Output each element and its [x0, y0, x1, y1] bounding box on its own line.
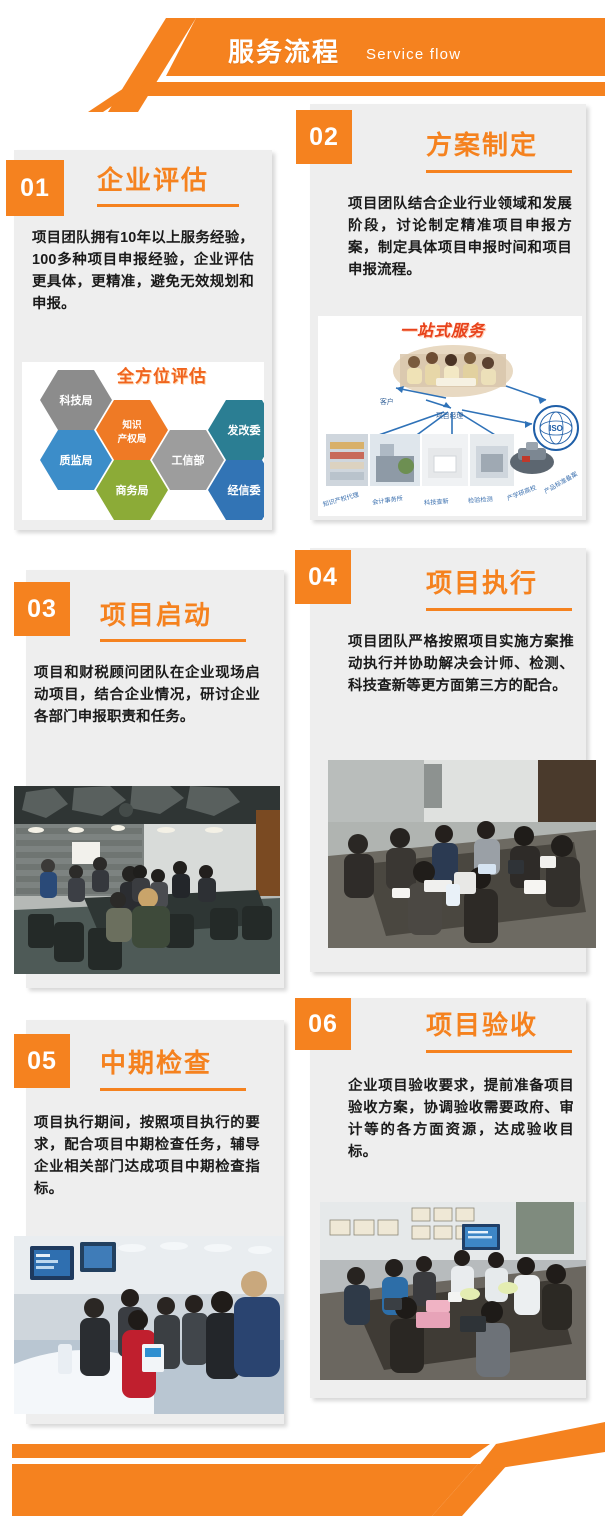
card-05-title: 中期检查	[100, 1050, 212, 1076]
hex-node-4-label: 工信部	[172, 453, 205, 467]
card-02-number: 02	[296, 110, 352, 164]
card-01[interactable]: 01 企业评估 项目团队拥有10年以上服务经验，100多种项目申报经验，企业评估…	[14, 150, 286, 540]
one-stop-service-diagram: 客户 项目经理	[318, 316, 582, 516]
card-01-title-rule	[97, 204, 239, 207]
card-03-title: 项目启动	[100, 602, 212, 628]
oss-top-photo	[393, 345, 513, 397]
card-01-number: 01	[6, 160, 64, 216]
hex-node-2-label: 发改委	[227, 423, 262, 437]
card-03[interactable]: 03 项目启动 项目和财税顾问团队在企业现场启动项目，结合企业情况，研讨企业各部…	[14, 570, 294, 990]
card-04-number: 04	[295, 550, 351, 604]
photo-boardroom	[320, 1202, 586, 1380]
hex-node-1-label-line2: 产权局	[118, 433, 147, 445]
card-06-body: 企业项目验收要求，提前准备项目验收方案，协调验收需要政府、审计等的各方面资源，达…	[348, 1076, 574, 1164]
oss-center-label: 项目经理	[436, 411, 463, 420]
photo-showroom-visit-svg	[14, 1236, 284, 1414]
card-05-number: 05	[14, 1034, 70, 1088]
card-01-title: 企业评估	[97, 167, 209, 193]
footer-banner-shape	[0, 1418, 605, 1538]
card-04-title: 项目执行	[426, 570, 538, 596]
card-03-title-rule	[100, 639, 246, 642]
card-01-body: 项目团队拥有10年以上服务经验，100多种项目申报经验，企业评估更具体，更精准，…	[32, 228, 254, 316]
hex-node-0-label: 科技局	[60, 393, 93, 407]
card-02-title-rule	[426, 170, 572, 173]
photo-showroom-visit	[14, 1236, 284, 1414]
card-02-title: 方案制定	[426, 132, 538, 158]
photo-meeting-table	[328, 760, 596, 948]
card-05-title-rule	[100, 1088, 246, 1091]
hex-node-3-label: 质监局	[60, 453, 93, 467]
card-05[interactable]: 05 中期检查 项目执行期间，按照项目执行的要求，配合项目中期检查任务，辅导企业…	[14, 1020, 294, 1440]
hex-node-6-label: 经信委	[228, 483, 262, 497]
page-subtitle: Service flow	[366, 47, 461, 62]
hex-node-5-label: 商务局	[116, 483, 149, 497]
hex-diagram-heading: 全方位评估	[117, 368, 207, 385]
service-flow-infographic: 服务流程 Service flow 01 企业评估 项目团队拥有10年以上服务经…	[0, 0, 605, 1538]
photo-conference-room	[14, 786, 280, 974]
hex-diagram: 科技局 质监局 知识 产权局 商务局 工信部 发改委 经信委	[22, 362, 264, 520]
page-title: 服务流程	[228, 39, 340, 65]
oss-iso-badge: ISO	[534, 406, 578, 450]
photo-boardroom-svg	[320, 1202, 586, 1380]
page-footer: 全国统一热线： 400-150-1560	[0, 1418, 605, 1538]
card-04-body: 项目团队严格按照项目实施方案推动执行并协助解决会计师、检测、科技查新等更方面第三…	[348, 632, 574, 698]
one-stop-service-svg: 客户 项目经理	[318, 316, 582, 516]
card-06-title: 项目验收	[426, 1012, 538, 1038]
card-03-body: 项目和财税顾问团队在企业现场启动项目，结合企业情况，研讨企业各部门申报职责和任务…	[34, 663, 260, 729]
card-05-body: 项目执行期间，按照项目执行的要求，配合项目中期检查任务，辅导企业相关部门达成项目…	[34, 1113, 260, 1201]
photo-meeting-table-svg	[328, 760, 596, 948]
oss-iso-text: ISO	[549, 424, 563, 433]
card-04[interactable]: 04 项目执行 项目团队严格按照项目实施方案推动执行并协助解决会计师、检测、科技…	[296, 548, 596, 978]
photo-conference-room-svg	[14, 786, 280, 974]
card-06-title-rule	[426, 1050, 572, 1053]
page-header: 服务流程 Service flow	[0, 0, 605, 110]
card-02-body: 项目团队结合企业行业领域和发展阶段，讨论制定精准项目申报方案，制定具体项目申报时…	[348, 194, 572, 282]
card-06-number: 06	[295, 998, 351, 1050]
hex-node-1-label-line1: 知识	[121, 419, 142, 431]
card-03-number: 03	[14, 582, 70, 636]
one-stop-heading: 一站式服务	[400, 324, 485, 340]
oss-client-label: 客户	[380, 397, 394, 406]
card-06[interactable]: 06 项目验收 企业项目验收要求，提前准备项目验收方案，协调验收需要政府、审计等…	[296, 998, 596, 1398]
card-02[interactable]: 02 方案制定 项目团队结合企业行业领域和发展阶段，讨论制定精准项目申报方案，制…	[296, 104, 596, 524]
card-04-title-rule	[426, 608, 572, 611]
